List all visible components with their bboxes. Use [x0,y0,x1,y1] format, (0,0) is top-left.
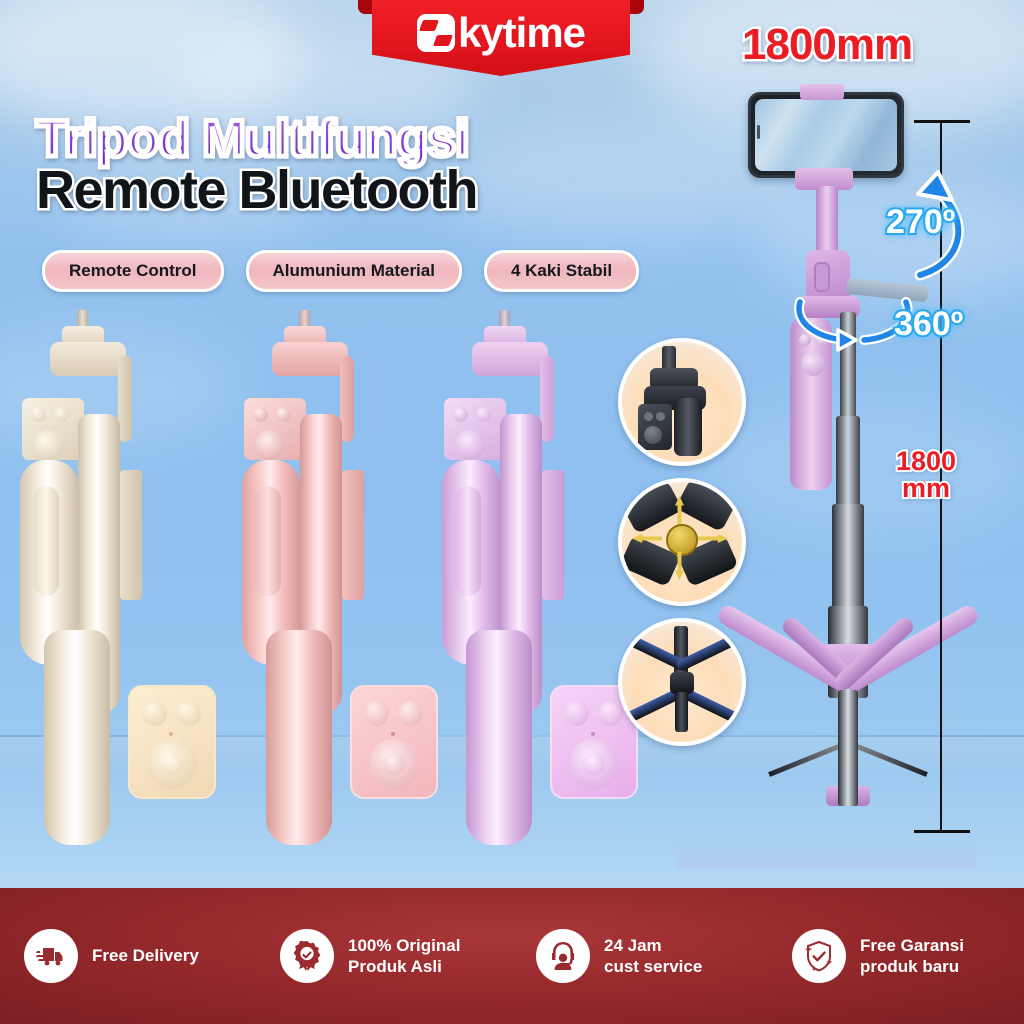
mode-button-small [476,407,491,422]
headline-line-2: Remote Bluetooth [36,162,636,218]
pivot-joint [472,342,548,376]
shield-check-icon [792,929,846,983]
remote-button-1 [564,701,589,726]
footer-label-line2: cust service [604,956,702,977]
pole-segment-3 [832,504,864,614]
leg-hub-detail [618,478,746,606]
pole-segment-2 [836,416,860,512]
footer-item-free-delivery: Free Delivery [0,929,256,983]
mode-button-small [54,407,69,422]
mount-screw [77,310,88,327]
measure-cap-top [914,120,970,123]
brand-name: kytime [458,12,585,54]
tripod-reflection [676,806,976,870]
badge-check-icon [280,929,334,983]
height-label-side: 1800 mm [896,448,956,502]
feature-badges: Remote Control Alumunium Material 4 Kaki… [42,250,639,292]
footer-bar: Free Delivery 100% Original Produk Asli … [0,888,1024,1024]
ribbon-fold-right [628,0,644,14]
folded-legs-detail [618,618,746,746]
remote-button-2 [398,701,423,726]
footer-label-line2: produk baru [860,956,964,977]
remote-button-1 [364,701,389,726]
badge-aluminium-material: Alumunium Material [246,250,462,292]
badge-remote-control: Remote Control [42,250,224,292]
footer-label-line1: 100% Original [348,935,460,956]
hook-arm [540,356,554,442]
badge-4-kaki-stabil: 4 Kaki Stabil [484,250,639,292]
mount-screw [499,310,510,327]
shutter-button-small [453,407,468,422]
clamp-head-detail [618,338,746,466]
bluetooth-remote [350,685,438,799]
height-label-top: 1800mm [742,20,912,70]
headset-icon [536,929,590,983]
headline-line-1: Tripod Multifungsi [36,112,636,166]
remote-center-button [161,753,183,775]
truck-icon [24,929,78,983]
remote-button-2 [176,701,201,726]
leg-panel [120,470,142,600]
joystick-button [255,430,285,460]
pivot-joint [272,342,348,376]
pivot-joint [50,342,126,376]
shutter-button-small [253,407,268,422]
hook-arm [340,356,354,442]
s-monogram-icon [417,14,455,52]
phone-clamp-top [800,84,844,100]
phone-side-button [757,125,760,139]
stick-lower-body [266,630,332,845]
leg-panel [342,470,364,600]
mount-screw [299,310,310,327]
remote-center-button [583,753,605,775]
grip-inlay [255,486,281,596]
ad-canvas: kytime Tripod Multifungsi Remote Bluetoo… [0,0,1024,1024]
hook-arm [118,356,132,442]
remote-button-2 [598,701,623,726]
grip-inlay [455,486,481,596]
mode-button-small [276,407,291,422]
measure-cap-bottom [914,830,970,833]
joystick-button [455,430,485,460]
rotate-angle-label: 360º [894,305,963,344]
stick-lower-body [44,630,110,845]
center-column-lower [838,690,858,806]
leg-panel [542,470,564,600]
footer-item-customer-service: 24 Jam cust service [512,929,768,983]
remote-center-button [383,753,405,775]
footer-label-line1: Free Garansi [860,935,964,956]
footer-item-original-product: 100% Original Produk Asli [256,929,512,983]
remote-led-indicator [591,732,595,736]
brand-ribbon: kytime [372,0,630,80]
shutter-button-small [31,407,46,422]
stick-lower-body [466,630,532,845]
bluetooth-remote [128,685,216,799]
footer-label-line1: 24 Jam [604,935,702,956]
tilt-angle-label: 270º [886,203,955,242]
headline-block: Tripod Multifungsi Remote Bluetooth [36,112,636,218]
footer-label-line1: Free Delivery [92,945,199,966]
remote-button-1 [142,701,167,726]
footer-item-warranty: Free Garansi produk baru [768,929,1024,983]
joystick-button [33,430,63,460]
footer-label-line2: Produk Asli [348,956,460,977]
remote-led-indicator [391,732,395,736]
remote-led-indicator [169,732,173,736]
grip-inlay [33,486,59,596]
height-label-side-unit: mm [896,475,956,502]
height-label-side-value: 1800 [896,448,956,475]
